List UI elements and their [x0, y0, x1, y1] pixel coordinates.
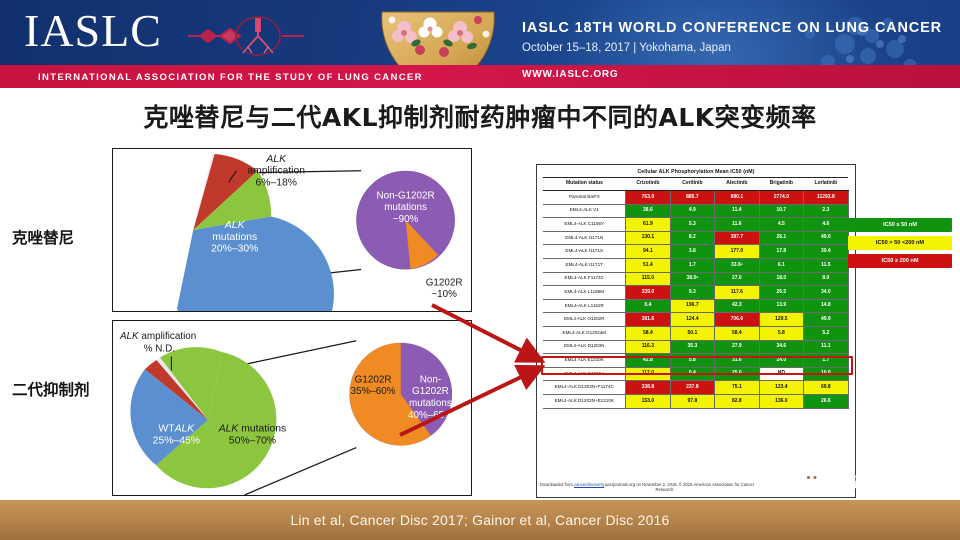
cell-ic50-value: 885.7 [670, 191, 714, 205]
cell-mutation-status: EML4-ALK L1196M [543, 286, 625, 300]
pie-slice-label-alk-amplification: ALK [265, 154, 287, 165]
cell-ic50-value: 763.9 [626, 191, 670, 205]
cell-ic50-value: 196.7 [670, 299, 714, 313]
cell-ic50-value: 42.8 [626, 354, 670, 368]
conference-banner: IASLC INTERNATIONAL ASSOCIATION FOR THE … [0, 0, 960, 88]
table-row: EML4-ALK D1203N+F1174C338.8237.875.1123.… [543, 381, 848, 395]
cell-ic50-value: 34.6 [759, 340, 803, 354]
cell-ic50-value: ND [759, 367, 803, 381]
pie-slice-value-wt-alk: 60%–70% [133, 235, 180, 246]
page-title: 克唑替尼与二代AKL抑制剂耐药肿瘤中不同的ALK突变频率 [0, 98, 960, 134]
cell-mutation-status: Parental Ba/F3 [543, 191, 625, 205]
lung-bronchi-icon [186, 14, 306, 58]
cell-ic50-value: 123.4 [759, 381, 803, 395]
cell-ic50-value: 4.6 [804, 218, 849, 232]
cell-ic50-value: 26.1 [759, 231, 803, 245]
cell-ic50-value: 0.4 [626, 299, 670, 313]
pie3-slice-value-wt-alk: 25%–45% [153, 436, 200, 447]
cell-ic50-value: 11.5 [804, 258, 849, 272]
cell-ic50-value: 8.2 [670, 231, 714, 245]
pie4-slice-label-non-g1202r-3: mutations [409, 398, 452, 409]
cell-ic50-value: 30.4 [804, 245, 849, 259]
cell-ic50-value: 0.4 [670, 367, 714, 381]
table-row: EML4-ALK I1171N130.18.2397.726.149.0 [543, 231, 848, 245]
cell-ic50-value: 25.0 [715, 367, 759, 381]
pie4-slice-label-non-g1202r-2: G1202R [412, 386, 449, 397]
ic50-table-header-row: Mutation status Crizotinib Ceritinib Ale… [543, 178, 848, 191]
legend-item-yellow: IC50 > 50 <200 nM [848, 236, 952, 250]
cell-ic50-value: 153.0 [626, 394, 670, 408]
cell-ic50-value: 706.6 [715, 313, 759, 327]
cell-ic50-value: 27.9 [715, 340, 759, 354]
watermark-text: 肺癌多学科会诊 [834, 471, 946, 492]
table-row: EML4-ALK D1203N+E1210K153.097.882.8136.0… [543, 394, 848, 408]
cell-ic50-value: 4.5 [759, 218, 803, 232]
ic50-table-footnote: Downloaded from cancerdiscovery.aacrjour… [540, 482, 790, 493]
cell-ic50-value: 10.7 [759, 204, 803, 218]
pie-second-gen-overview [130, 347, 276, 488]
table-row: EML4-ALK I1171S94.13.8177.017.830.4 [543, 245, 848, 259]
pie4-slice-label-non-g1202r: Non- [420, 374, 441, 385]
cell-ic50-value: 24.0 [759, 354, 803, 368]
conference-title: IASLC 18TH WORLD CONFERENCE ON LUNG CANC… [522, 20, 942, 36]
conference-website: WWW.IASLC.ORG [522, 69, 619, 80]
crizotinib-pie-figure: WTALK 60%–70% ALK mutations 20%–30% ALK … [113, 149, 471, 311]
cell-ic50-value: 890.1 [715, 191, 759, 205]
footnote-suffix: .aacrjournals.org on November 2, 2016. ©… [604, 482, 754, 487]
cell-ic50-value: 5.8 [759, 326, 803, 340]
cell-ic50-value: 11.4 [715, 204, 759, 218]
table-row: EML4-ALK V138.64.911.410.72.3 [543, 204, 848, 218]
cell-mutation-status: EML4-ALK G1269A [543, 367, 625, 381]
panel-crizotinib-pies: WTALK 60%–70% ALK mutations 20%–30% ALK … [112, 148, 472, 312]
panel-second-gen-pies: WTALK 25%–45% ALK mutations 50%–70% ALK … [112, 320, 472, 496]
col-lorlatinib: Lorlatinib [804, 178, 849, 191]
cell-mutation-status: EML4-ALK G1202R [543, 313, 625, 327]
col-brigatinib: Brigatinib [759, 178, 803, 191]
second-gen-pie-figure: WTALK 25%–45% ALK mutations 50%–70% ALK … [113, 321, 471, 495]
row-label-crizotinib: 克唑替尼 [12, 226, 74, 248]
cell-ic50-value: 1.7 [670, 258, 714, 272]
footnote-link[interactable]: cancerdiscovery [574, 482, 604, 487]
cell-ic50-value: 26.5 [759, 286, 803, 300]
cell-mutation-status: EML4-ALK F1174C [543, 272, 625, 286]
cell-ic50-value: 339.0 [626, 286, 670, 300]
legend-item-red: IC50 ≥ 200 nM [848, 254, 952, 268]
cell-mutation-status: EML4-ALK L1152R [543, 299, 625, 313]
cell-ic50-value: 35.3 [670, 340, 714, 354]
cell-ic50-value: 124.4 [670, 313, 714, 327]
wechat-logo-icon [801, 470, 827, 492]
cell-ic50-value: 115.0 [626, 272, 670, 286]
pie3-slice-value-alk-amplification: % N.D. [144, 344, 175, 355]
table-row: EML4-ALK F1174C115.038.0ᵃ27.018.08.0 [543, 272, 848, 286]
table-row: EML4-ALK I1171T51.41.733.6ᵃ6.111.5 [543, 258, 848, 272]
cell-ic50-value: 58.4 [715, 326, 759, 340]
ic50-table-card: Cellular ALK Phosphorylation Mean IC50 (… [536, 164, 856, 498]
cell-ic50-value: 1.7 [804, 354, 849, 368]
pie2-slice-label-g1202r: G1202R [426, 277, 463, 288]
table-row: EML4-ALK G1202del58.450.158.45.85.2 [543, 326, 848, 340]
cell-ic50-value: 130.1 [626, 231, 670, 245]
cell-ic50-value: 75.1 [715, 381, 759, 395]
cell-ic50-value: 338.8 [626, 381, 670, 395]
cell-ic50-value: 34.0 [804, 286, 849, 300]
cell-ic50-value: 94.1 [626, 245, 670, 259]
cell-mutation-status: EML4-ALK C1156Y [543, 218, 625, 232]
association-tagline: INTERNATIONAL ASSOCIATION FOR THE STUDY … [38, 72, 423, 83]
table-row: EML4-ALK D1203N116.335.327.934.611.1 [543, 340, 848, 354]
cell-ic50-value: 82.8 [715, 394, 759, 408]
table-row: EML4-ALK L1196M339.09.3117.626.534.0 [543, 286, 848, 300]
cell-ic50-value: 31.6 [715, 354, 759, 368]
cell-ic50-value: 116.3 [626, 340, 670, 354]
col-ceritinib: Ceritinib [670, 178, 714, 191]
cell-ic50-value: 117.6 [715, 286, 759, 300]
ic50-table-title: Cellular ALK Phosphorylation Mean IC50 (… [537, 165, 855, 177]
pie3-slice-label-alk-amplification: ALK amplification [119, 331, 196, 342]
conference-date-location: October 15–18, 2017 | Yokohama, Japan [522, 42, 731, 54]
pie-slice-value-alk-mutations: 20%–30% [211, 244, 258, 255]
col-mutation-status: Mutation status [543, 178, 625, 191]
table-row: EML4 ALK E1210K42.85.831.624.01.7 [543, 354, 848, 368]
cell-ic50-value: 11.6 [715, 218, 759, 232]
ic50-legend: IC50 ≤ 50 nM IC50 > 50 <200 nM IC50 ≥ 20… [848, 218, 952, 272]
pie2-slice-value-non-g1202r: ~90% [393, 214, 419, 225]
cell-ic50-value: 33.6ᵃ [715, 258, 759, 272]
pie3-slice-label-wt-alk: WTALK [158, 424, 195, 435]
table-row: Parental Ba/F3763.9885.7890.12774.011293… [543, 191, 848, 205]
pie4-slice-value-g1202r: 35%–60% [351, 386, 396, 397]
iaslc-logo-text: IASLC [24, 8, 162, 54]
cell-ic50-value: 237.8 [670, 381, 714, 395]
footnote-prefix: Downloaded from [540, 482, 574, 487]
cell-mutation-status: EML4-ALK G1202del [543, 326, 625, 340]
pie3-slice-value-alk-mutations: 50%–70% [229, 436, 276, 447]
cell-ic50-value: 397.7 [715, 231, 759, 245]
cell-ic50-value: 9.3 [670, 286, 714, 300]
cell-ic50-value: 38.6 [626, 204, 670, 218]
cell-ic50-value: 50.1 [670, 326, 714, 340]
cell-ic50-value: 42.3 [715, 299, 759, 313]
watermark: 肺癌多学科会诊 [801, 470, 946, 492]
citation-text: Lin et al, Cancer Disc 2017; Gainor et a… [0, 512, 960, 528]
cell-ic50-value: 10.0 [804, 367, 849, 381]
cell-ic50-value: 11293.8 [804, 191, 849, 205]
table-row: EML4-ALK L1152R0.4196.742.313.914.8 [543, 299, 848, 313]
cell-ic50-value: 4.9 [670, 204, 714, 218]
table-row: EML4-ALK G1202R381.6124.4706.6129.549.9 [543, 313, 848, 327]
footnote-line2: Research. [540, 487, 790, 492]
cell-ic50-value: 11.1 [804, 340, 849, 354]
cell-mutation-status: EML4-ALK I1171S [543, 245, 625, 259]
cell-ic50-value: 18.0 [759, 272, 803, 286]
legend-item-green: IC50 ≤ 50 nM [848, 218, 952, 232]
cell-ic50-value: 49.9 [804, 313, 849, 327]
pie2-slice-label-non-g1202r-2: mutations [384, 202, 427, 213]
table-row: EML4-ALK C1156Y61.95.311.64.54.6 [543, 218, 848, 232]
cell-mutation-status: EML4-ALK D1203N+F1174C [543, 381, 625, 395]
cell-ic50-value: 2.3 [804, 204, 849, 218]
cell-ic50-value: 51.4 [626, 258, 670, 272]
cell-ic50-value: 38.0ᵃ [670, 272, 714, 286]
cell-ic50-value: 129.5 [759, 313, 803, 327]
cell-ic50-value: 61.9 [626, 218, 670, 232]
cell-ic50-value: 97.8 [670, 394, 714, 408]
cell-ic50-value: 14.8 [804, 299, 849, 313]
ic50-table: Mutation status Crizotinib Ceritinib Ale… [543, 177, 848, 409]
cell-ic50-value: 5.8 [670, 354, 714, 368]
cell-ic50-value: 136.0 [759, 394, 803, 408]
cell-mutation-status: EML4-ALK V1 [543, 204, 625, 218]
cell-ic50-value: 6.1 [759, 258, 803, 272]
pie2-slice-value-g1202r: ~10% [431, 289, 457, 300]
cell-ic50-value: 26.6 [804, 394, 849, 408]
cell-ic50-value: 5.3 [670, 218, 714, 232]
cell-mutation-status: EML4-ALK D1203N+E1210K [543, 394, 625, 408]
pie4-slice-label-g1202r: G1202R [355, 374, 392, 385]
cell-ic50-value: 3.8 [670, 245, 714, 259]
col-alectinib: Alectinib [715, 178, 759, 191]
cell-mutation-status: EML4-ALK I1171N [543, 231, 625, 245]
cell-ic50-value: 117.0 [626, 367, 670, 381]
row-label-second-gen: 二代抑制剂 [12, 378, 90, 400]
cell-ic50-value: 8.0 [804, 272, 849, 286]
pie-slice-label-alk-mutations-2: mutations [212, 232, 257, 243]
cell-ic50-value: 49.0 [804, 231, 849, 245]
pie-slice-label-alk-amplification-2: amplification [247, 166, 305, 177]
pie2-slice-label-non-g1202r: Non-G1202R [377, 190, 435, 201]
cell-mutation-status: EML4 ALK E1210K [543, 354, 625, 368]
cell-ic50-value: 177.0 [715, 245, 759, 259]
pie3-slice-label-alk-mutations: ALK mutations [218, 424, 287, 435]
cell-ic50-value: 27.0 [715, 272, 759, 286]
cell-ic50-value: 69.8 [804, 381, 849, 395]
col-crizotinib: Crizotinib [626, 178, 670, 191]
pie-slice-value-alk-amplification: 6%–18% [255, 178, 296, 189]
pie4-slice-value-non-g1202r: 40%–65% [408, 410, 453, 421]
cell-ic50-value: 2774.0 [759, 191, 803, 205]
pie-slice-label-alk-mutations: ALK [224, 220, 246, 231]
cell-ic50-value: 58.4 [626, 326, 670, 340]
table-row: EML4-ALK G1269A117.00.425.0ND10.0 [543, 367, 848, 381]
cell-ic50-value: 13.9 [759, 299, 803, 313]
cell-mutation-status: EML4-ALK D1203N [543, 340, 625, 354]
cell-ic50-value: 381.6 [626, 313, 670, 327]
cell-mutation-status: EML4-ALK I1171T [543, 258, 625, 272]
cell-ic50-value: 17.8 [759, 245, 803, 259]
pie-slice-label-wt-alk: WTALK [139, 223, 176, 234]
cell-ic50-value: 5.2 [804, 326, 849, 340]
